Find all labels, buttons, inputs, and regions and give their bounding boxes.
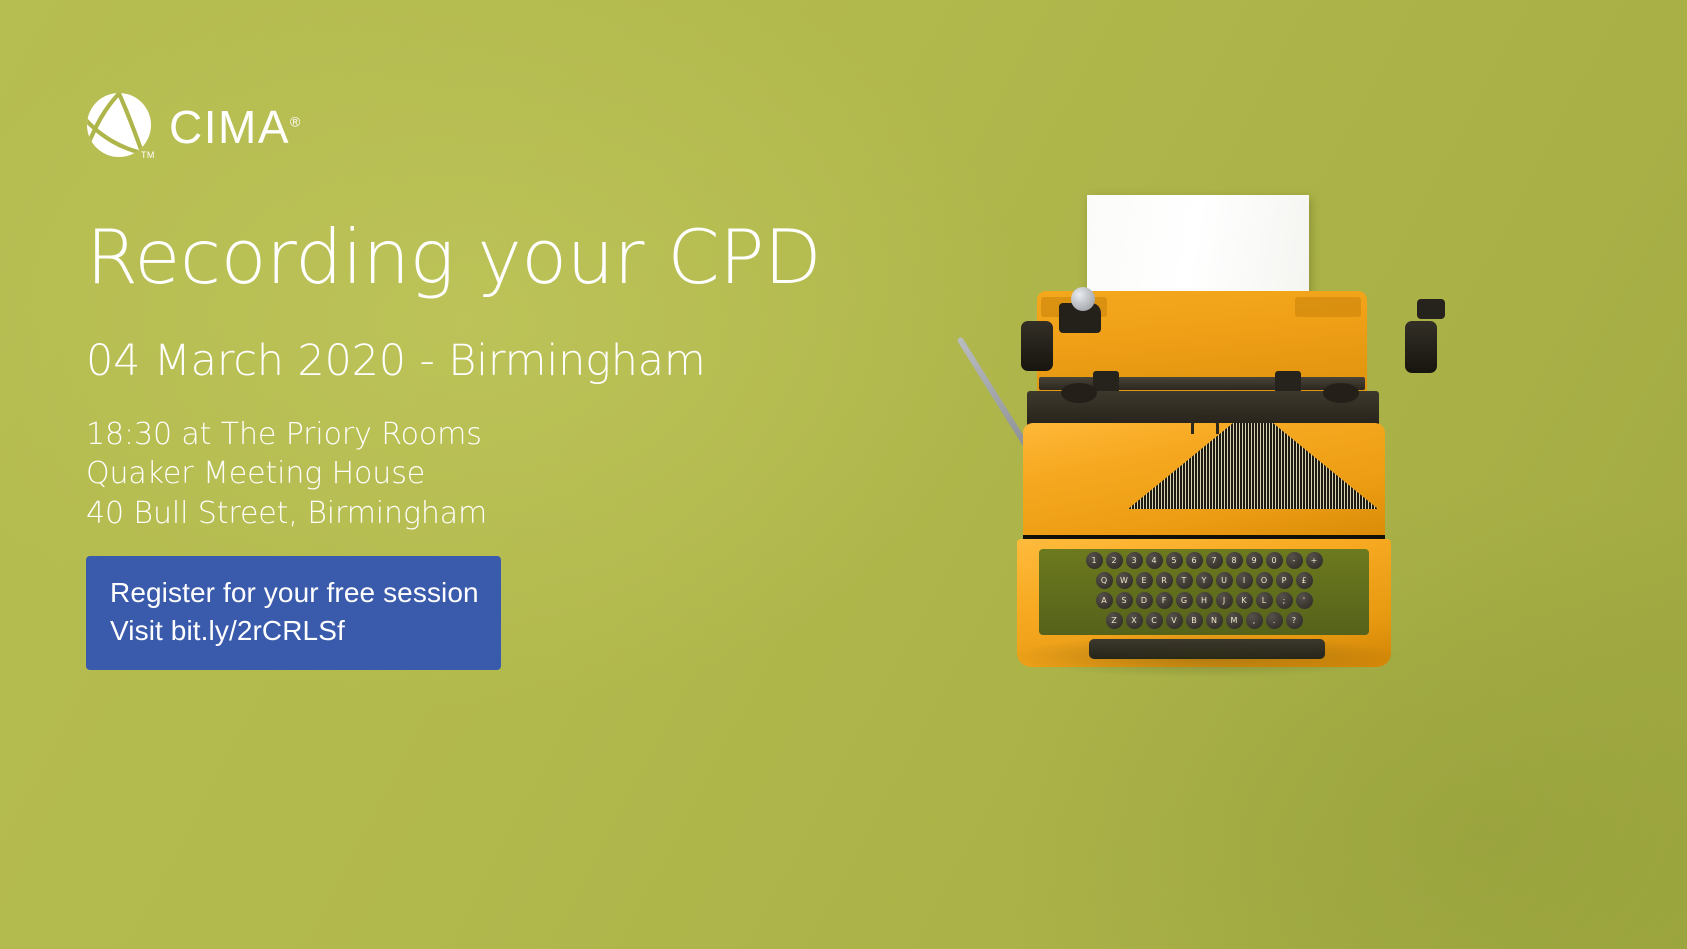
typewriter-key: 0 [1266, 552, 1283, 569]
typewriter-side-lever-right [1417, 299, 1445, 319]
typewriter-body [1023, 423, 1385, 539]
typewriter-gear-right [1323, 383, 1359, 403]
typewriter-key: 6 [1186, 552, 1203, 569]
cima-logo[interactable]: TM CIMA® [86, 92, 300, 158]
page-title: Recording your CPD [86, 218, 821, 297]
venue-line-address: 40 Bull Street, Birmingham [86, 494, 487, 533]
typewriter-key: U [1216, 572, 1233, 589]
typewriter-key: E [1136, 572, 1153, 589]
typewriter-return-lever-pivot [1071, 287, 1095, 311]
typewriter-key: K [1236, 592, 1253, 609]
typewriter-key: 7 [1206, 552, 1223, 569]
event-banner: TM CIMA® Recording your CPD 04 March 202… [0, 0, 1687, 949]
typewriter-key: Q [1096, 572, 1113, 589]
cima-wordmark-text: CIMA [169, 101, 290, 153]
typewriter-key: 5 [1166, 552, 1183, 569]
typewriter-key: . [1266, 612, 1283, 629]
typewriter-key: ' [1296, 592, 1313, 609]
register-button-label: Register for your free session [110, 574, 479, 612]
typewriter-key: + [1306, 552, 1323, 569]
typewriter-key: £ [1296, 572, 1313, 589]
typewriter-key: T [1176, 572, 1193, 589]
typewriter-key: 4 [1146, 552, 1163, 569]
typewriter-key: D [1136, 592, 1153, 609]
typewriter-key: 1 [1086, 552, 1103, 569]
typewriter-key: ; [1276, 592, 1293, 609]
venue-details: 18:30 at The Priory Rooms Quaker Meeting… [86, 415, 487, 533]
typewriter-typebar-cap [1191, 415, 1219, 434]
typewriter-key: - [1286, 552, 1303, 569]
registered-mark: ® [290, 114, 300, 130]
typewriter-key: 8 [1226, 552, 1243, 569]
typewriter-gear-left [1061, 383, 1097, 403]
trademark-mark: TM [141, 151, 155, 160]
typewriter-key: S [1116, 592, 1133, 609]
typewriter-key: O [1256, 572, 1273, 589]
typewriter-key: ? [1286, 612, 1303, 629]
typewriter-key: Z [1106, 612, 1123, 629]
typewriter-key: C [1146, 612, 1163, 629]
register-button-url: Visit bit.ly/2rCRLSf [110, 612, 479, 650]
typewriter-key: F [1156, 592, 1173, 609]
register-button[interactable]: Register for your free session Visit bit… [86, 556, 501, 670]
venue-line-time: 18:30 at The Priory Rooms [86, 415, 487, 454]
typewriter-key: V [1166, 612, 1183, 629]
vintage-typewriter-photo: 1234567890-+ QWERTYUIOP£ ASDFGHJKL;' ZXC… [975, 195, 1445, 670]
typewriter-key-row: 1234567890-+ [1039, 549, 1369, 569]
typewriter-key: W [1116, 572, 1133, 589]
typewriter-key: N [1206, 612, 1223, 629]
typewriter-key: X [1126, 612, 1143, 629]
typewriter-key: , [1246, 612, 1263, 629]
typewriter-key: P [1276, 572, 1293, 589]
typewriter-key: 2 [1106, 552, 1123, 569]
typewriter-key: M [1226, 612, 1243, 629]
typewriter-key: 9 [1246, 552, 1263, 569]
typewriter-key-row: QWERTYUIOP£ [1039, 569, 1369, 589]
typewriter-key: I [1236, 572, 1253, 589]
typewriter-key: Y [1196, 572, 1213, 589]
cima-wordmark: CIMA® [169, 104, 300, 150]
typewriter-keyboard: 1234567890-+ QWERTYUIOP£ ASDFGHJKL;' ZXC… [1039, 549, 1369, 635]
typewriter-key: B [1186, 612, 1203, 629]
typewriter-shadow [1013, 635, 1397, 677]
typewriter-key: G [1176, 592, 1193, 609]
event-date-location: 04 March 2020 - Birmingham [86, 338, 706, 385]
typewriter-rail-guide-right [1275, 371, 1301, 393]
typewriter-typebar-fan [1128, 423, 1378, 509]
typewriter-platen-knob-left [1021, 321, 1053, 371]
cima-circle-logo-icon: TM [86, 92, 152, 158]
typewriter-key-row: ASDFGHJKL;' [1039, 589, 1369, 609]
typewriter-key: H [1196, 592, 1213, 609]
typewriter-key: A [1096, 592, 1113, 609]
typewriter-rail-guide-left [1093, 371, 1119, 393]
typewriter-key: 3 [1126, 552, 1143, 569]
typewriter-key-row: ZXCVBNM,.? [1039, 609, 1369, 629]
typewriter-key: R [1156, 572, 1173, 589]
typewriter-key: J [1216, 592, 1233, 609]
typewriter-key: L [1256, 592, 1273, 609]
venue-line-building: Quaker Meeting House [86, 454, 487, 493]
typewriter-platen-knob-right [1405, 321, 1437, 373]
